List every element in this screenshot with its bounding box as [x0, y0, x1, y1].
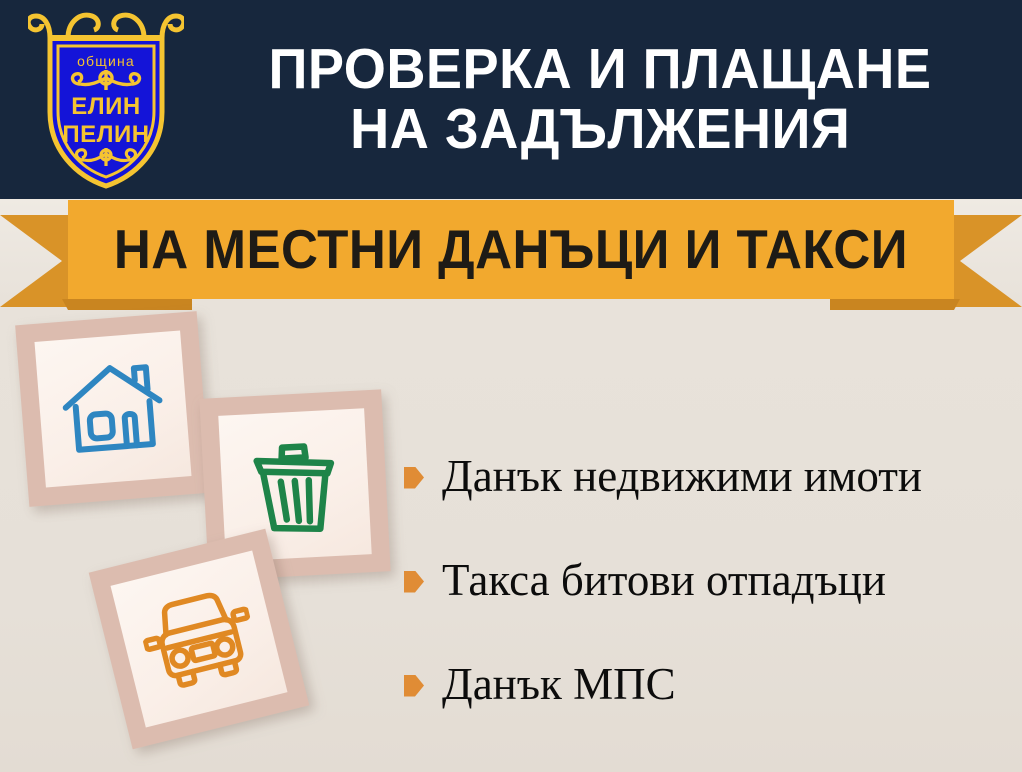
svg-text:ЕЛИН: ЕЛИН [71, 93, 140, 120]
bullet-arrow-icon [404, 571, 424, 593]
ribbon-label: НА МЕСТНИ ДАНЪЦИ И ТАКСИ [114, 222, 908, 277]
trash-can-icon [247, 433, 342, 538]
poster-canvas: община ЕЛИН ПЕЛИН [0, 0, 1022, 772]
header-title-block: ПРОВЕРКА И ПЛАЩАНЕ НА ЗАДЪЛЖЕНИЯ [190, 0, 1010, 199]
ribbon-fold-right [830, 299, 960, 310]
page-title-line-2: НА ЗАДЪЛЖЕНИЯ [350, 100, 850, 159]
coat-of-arms-icon: община ЕЛИН ПЕЛИН [28, 8, 184, 192]
municipality-logo: община ЕЛИН ПЕЛИН [28, 8, 184, 192]
bullet-arrow-icon [404, 675, 424, 697]
list-item: Данък МПС [404, 632, 1014, 736]
bullet-arrow-icon [404, 467, 424, 489]
svg-text:ПЕЛИН: ПЕЛИН [62, 121, 149, 148]
obligation-types-list: Данък недвижими имоти Такса битови отпад… [404, 424, 1014, 736]
ribbon-fold-left [62, 299, 192, 310]
car-icon [135, 582, 264, 696]
ribbon-banner: НА МЕСТНИ ДАНЪЦИ И ТАКСИ [68, 200, 954, 299]
header-bar: община ЕЛИН ПЕЛИН [0, 0, 1022, 199]
svg-text:община: община [77, 53, 135, 69]
page-title-line-1: ПРОВЕРКА И ПЛАЩАНЕ [268, 40, 931, 99]
list-item-label: Данък МПС [442, 662, 676, 707]
house-icon-wrap [34, 330, 191, 487]
list-item-label: Данък недвижими имоти [442, 454, 922, 499]
list-item: Данък недвижими имоти [404, 424, 1014, 528]
subtitle-ribbon: НА МЕСТНИ ДАНЪЦИ И ТАКСИ [0, 196, 1022, 316]
list-item-label: Такса битови отпадъци [442, 558, 886, 603]
house-icon [57, 357, 168, 461]
stamp-card-property [15, 311, 211, 507]
list-item: Такса битови отпадъци [404, 528, 1014, 632]
